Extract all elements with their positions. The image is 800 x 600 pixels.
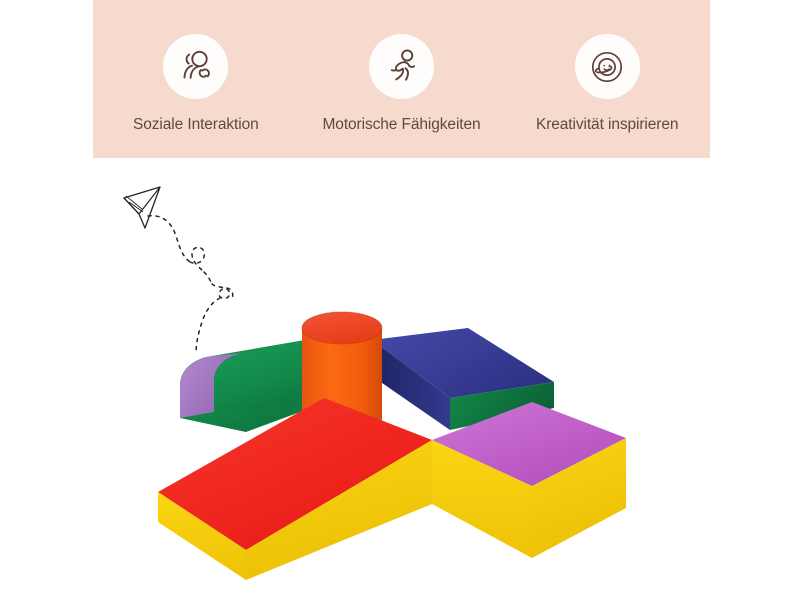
feature-banner: Soziale Interaktion xyxy=(93,0,710,158)
foam-play-block-set xyxy=(150,290,670,590)
feature-item-social-interaction: Soziale Interaktion xyxy=(93,0,299,134)
red-ramp-block xyxy=(158,398,432,580)
feature-label: Kreativität inspirieren xyxy=(536,116,678,134)
feature-badge xyxy=(575,34,640,99)
planet-face-circle-icon xyxy=(586,46,628,88)
feature-label: Soziale Interaktion xyxy=(133,116,259,134)
feature-item-creativity: Kreativität inspirieren xyxy=(504,0,710,134)
two-people-link-icon xyxy=(175,46,217,88)
feature-badge xyxy=(163,34,228,99)
feature-label: Motorische Fähigkeiten xyxy=(322,116,480,134)
paper-plane-icon xyxy=(124,187,160,228)
running-person-icon xyxy=(381,46,423,88)
feature-list: Soziale Interaktion xyxy=(93,0,710,158)
feature-badge xyxy=(369,34,434,99)
feature-item-motor-skills: Motorische Fähigkeiten xyxy=(299,0,505,134)
